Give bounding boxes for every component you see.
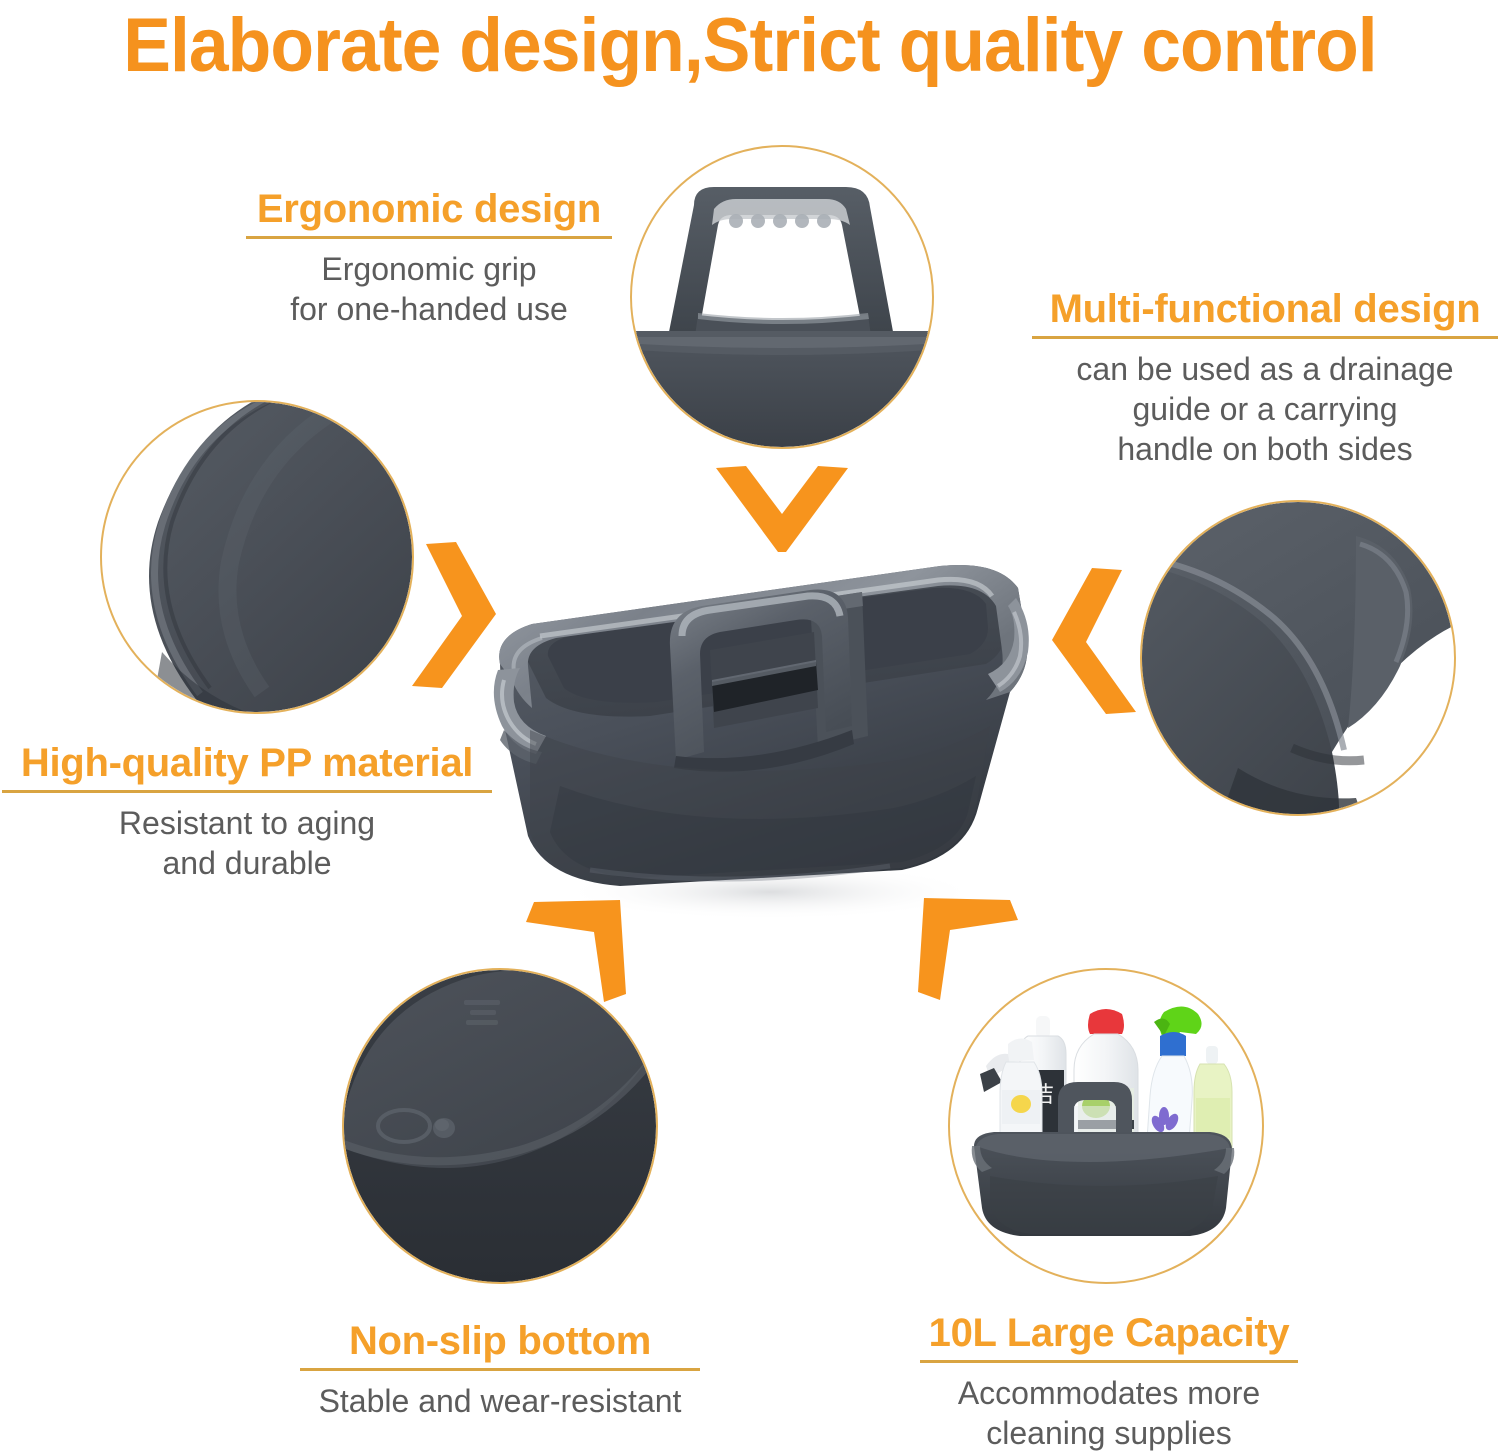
feature-heading: 10L Large Capacity: [920, 1310, 1298, 1356]
handle-grip-detail-image: [632, 147, 932, 447]
detail-bubble-capacity: 洁: [948, 968, 1264, 1284]
feature-description: Stable and wear-resistant: [300, 1381, 700, 1421]
desc-line: for one-handed use: [246, 289, 612, 329]
drainage-guide-detail-image: [1142, 502, 1454, 814]
infographic-canvas: Elaborate design,Strict quality control …: [0, 0, 1500, 1445]
feature-multi-functional-design: Multi-functional design can be used as a…: [1032, 286, 1498, 469]
non-slip-bottom-detail-image: [344, 970, 656, 1282]
chevron-down-icon: [712, 462, 852, 558]
feature-heading: Ergonomic design: [246, 186, 612, 232]
desc-line: guide or a carrying: [1032, 389, 1498, 429]
detail-bubble-material: [100, 400, 414, 714]
desc-line: Ergonomic grip: [246, 249, 612, 289]
detail-bubble-drainage: [1140, 500, 1456, 816]
feature-heading: Non-slip bottom: [300, 1318, 700, 1364]
heading-underline: [920, 1360, 1298, 1363]
desc-line: and durable: [2, 843, 492, 883]
desc-line: cleaning supplies: [920, 1413, 1298, 1453]
heading-underline: [300, 1368, 700, 1371]
heading-underline: [1032, 336, 1498, 339]
cleaning-caddy-main-image: [470, 540, 1050, 940]
detail-bubble-non-slip: [342, 968, 658, 1284]
desc-line: Resistant to aging: [2, 803, 492, 843]
feature-description: Resistant to aging and durable: [2, 803, 492, 883]
feature-10l-large-capacity: 10L Large Capacity Accommodates more cle…: [920, 1310, 1298, 1453]
desc-line: handle on both sides: [1032, 429, 1498, 469]
detail-bubble-handle: [630, 145, 934, 449]
feature-description: Accommodates more cleaning supplies: [920, 1373, 1298, 1453]
heading-underline: [2, 790, 492, 793]
feature-heading: Multi-functional design: [1032, 286, 1498, 332]
chevron-up-right-icon: [508, 898, 634, 1006]
chevron-left-icon: [1048, 566, 1148, 718]
feature-heading: High-quality PP material: [2, 740, 492, 786]
feature-description: Ergonomic grip for one-handed use: [246, 249, 612, 329]
heading-underline: [246, 236, 612, 239]
feature-non-slip-bottom: Non-slip bottom Stable and wear-resistan…: [300, 1318, 700, 1421]
feature-ergonomic-design: Ergonomic design Ergonomic grip for one-…: [246, 186, 612, 329]
desc-line: can be used as a drainage: [1032, 349, 1498, 389]
chevron-right-icon: [400, 540, 500, 692]
feature-description: can be used as a drainage guide or a car…: [1032, 349, 1498, 469]
chevron-up-left-icon: [910, 896, 1036, 1004]
pp-material-corner-detail-image: [102, 402, 412, 712]
page-title: Elaborate design,Strict quality control: [45, 2, 1455, 90]
desc-line: Accommodates more: [920, 1373, 1298, 1413]
caddy-with-cleaning-supplies-image: 洁: [950, 970, 1262, 1282]
desc-line: Stable and wear-resistant: [300, 1381, 700, 1421]
feature-high-quality-pp-material: High-quality PP material Resistant to ag…: [2, 740, 492, 883]
